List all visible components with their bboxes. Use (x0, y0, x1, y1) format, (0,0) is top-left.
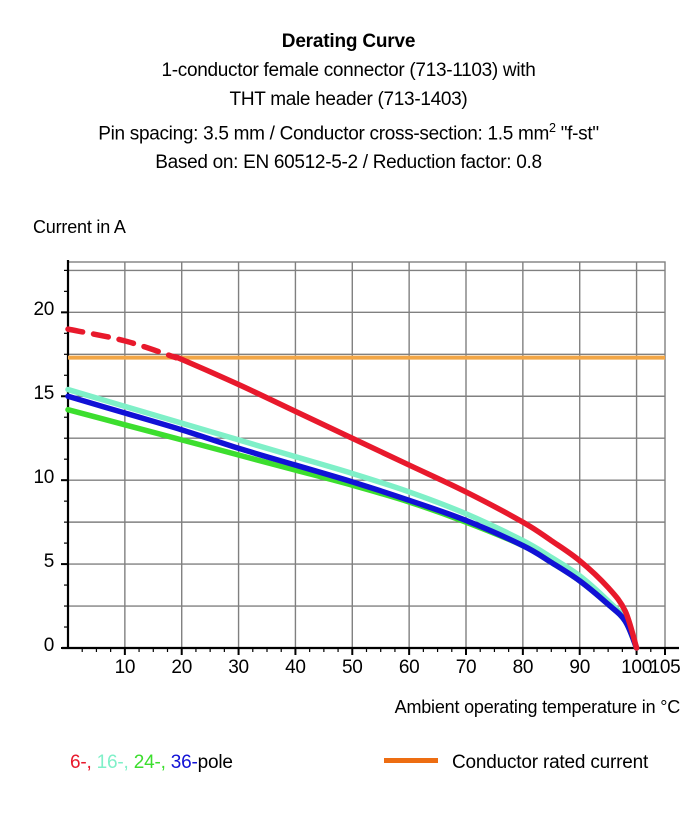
x-tick-label: 50 (322, 657, 382, 679)
x-tick-label: 20 (152, 657, 212, 679)
x-tick-label: 70 (436, 657, 496, 679)
legend-rated-current: Conductor rated current (384, 752, 648, 774)
y-tick-label: 10 (10, 467, 54, 489)
legend-24-pole: 24-, (134, 752, 166, 773)
y-tick-label: 20 (10, 299, 54, 321)
y-tick-label: 0 (10, 635, 54, 657)
x-tick-label: 40 (265, 657, 325, 679)
x-tick-label: 10 (95, 657, 155, 679)
plot-background (68, 262, 665, 648)
legend-pole-series: 6-, 16-, 24-, 36-pole (70, 752, 233, 774)
x-tick-label: 30 (209, 657, 269, 679)
y-tick-label: 5 (10, 551, 54, 573)
x-tick-label: 90 (550, 657, 610, 679)
x-tick-label: 60 (379, 657, 439, 679)
x-tick-label: 105 (635, 657, 695, 679)
legend-36-pole: 36- (171, 752, 198, 773)
legend-6-pole: 6-, (70, 752, 92, 773)
x-tick-label: 80 (493, 657, 553, 679)
legend-rated-current-label: Conductor rated current (452, 752, 648, 773)
legend-pole-suffix: pole (198, 752, 233, 773)
derating-curve-plot (0, 0, 697, 740)
rated-current-swatch (384, 758, 438, 763)
y-tick-label: 15 (10, 383, 54, 405)
legend-16-pole: 16-, (97, 752, 129, 773)
chart-legend: 6-, 16-, 24-, 36-pole Conductor rated cu… (0, 752, 697, 786)
